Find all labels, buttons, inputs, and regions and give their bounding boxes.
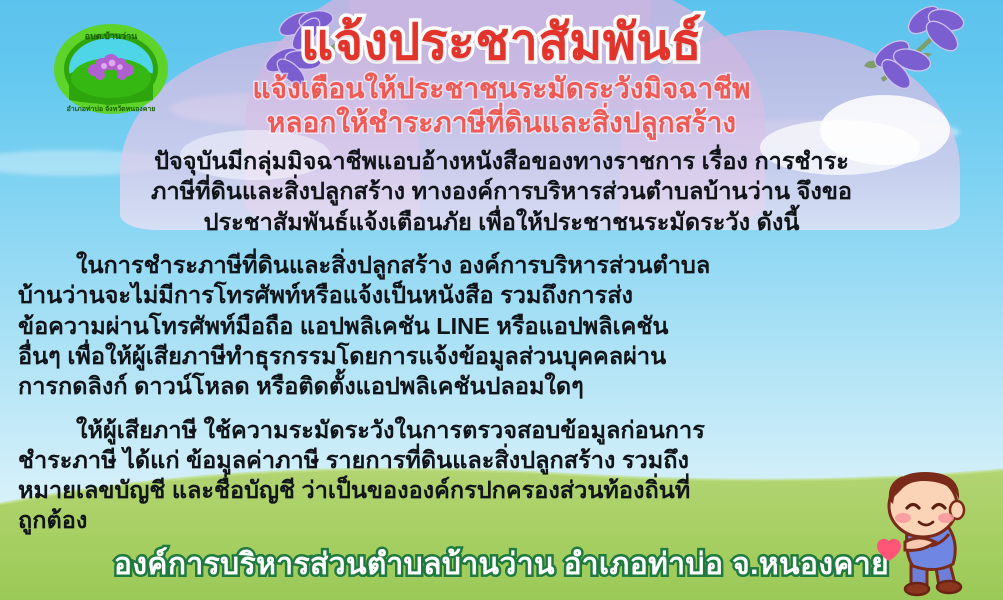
paragraph-1: ปัจจุบันมีกลุ่มมิจฉาชีพแอบอ้างหนังสือของ…: [18, 146, 985, 237]
paragraph-2-line-3: ข้อความผ่านโทรศัพท์มือถือ แอปพลิเคชัน LI…: [18, 311, 985, 341]
paragraph-2-line-5: การกดลิงก์ ดาวน์โหลด หรือติดตั้งแอปพลิเค…: [18, 371, 985, 401]
paragraph-2-line-1: ในการชำระภาษีที่ดินและสิ่งปลูกสร้าง องค์…: [18, 250, 985, 280]
paragraph-3-line-2: ชำระภาษี ได้แก่ ข้อมูลค่าภาษี รายการที่ด…: [18, 445, 985, 475]
paragraph-1-line-3: ประชาสัมพันธ์แจ้งเตือนภัย เพื่อให้ประชาช…: [18, 207, 985, 237]
footer-organization-text: องค์การบริหารส่วนตำบลบ้านว่าน อำเภอท่าบ่…: [114, 541, 889, 588]
poster-subtitle: แจ้งเตือนให้ประชาชนระมัดระวังมิจฉาชีพ หล…: [0, 72, 1003, 140]
poster-canvas: อบต.บ้านว่าน อำเภอท่าบ่อ จังหวัดหนองคาย: [0, 0, 1003, 600]
paragraph-2-line-2: บ้านว่านจะไม่มีการโทรศัพท์หรือแจ้งเป็นหน…: [18, 280, 985, 310]
poster-subtitle-line-2: หลอกให้ชำระภาษีที่ดินและสิ่งปลูกสร้าง: [0, 106, 1003, 140]
body-copy: ปัจจุบันมีกลุ่มมิจฉาชีพแอบอ้างหนังสือของ…: [18, 146, 985, 549]
paragraph-3: ให้ผู้เสียภาษี ใช้ความระมัดระวังในการตรว…: [18, 415, 985, 536]
poster-title: แจ้งประชาสัมพันธ์: [0, 16, 1003, 69]
paragraph-2-line-4: อื่นๆ เพื่อให้ผู้เสียภาษีทำธุรกรรมโดยการ…: [18, 341, 985, 371]
heading-block: แจ้งประชาสัมพันธ์ แจ้งเตือนให้ประชาชนระม…: [0, 16, 1003, 140]
paragraph-3-line-3: หมายเลขบัญชี และชื่อบัญชี ว่าเป็นขององค์…: [18, 475, 985, 505]
paragraph-1-line-2: ภาษีที่ดินและสิ่งปลูกสร้าง ทางองค์การบริ…: [18, 176, 985, 206]
paragraph-2: ในการชำระภาษีที่ดินและสิ่งปลูกสร้าง องค์…: [18, 250, 985, 402]
boy-mascot-wai-icon: [849, 470, 999, 598]
poster-subtitle-line-1: แจ้งเตือนให้ประชาชนระมัดระวังมิจฉาชีพ: [0, 72, 1003, 106]
paragraph-3-line-1: ให้ผู้เสียภาษี ใช้ความระมัดระวังในการตรว…: [18, 415, 985, 445]
pink-heart-icon: [877, 539, 901, 561]
paragraph-1-line-1: ปัจจุบันมีกลุ่มมิจฉาชีพแอบอ้างหนังสือของ…: [18, 146, 985, 176]
paragraph-3-line-4: ถูกต้อง: [18, 505, 985, 535]
